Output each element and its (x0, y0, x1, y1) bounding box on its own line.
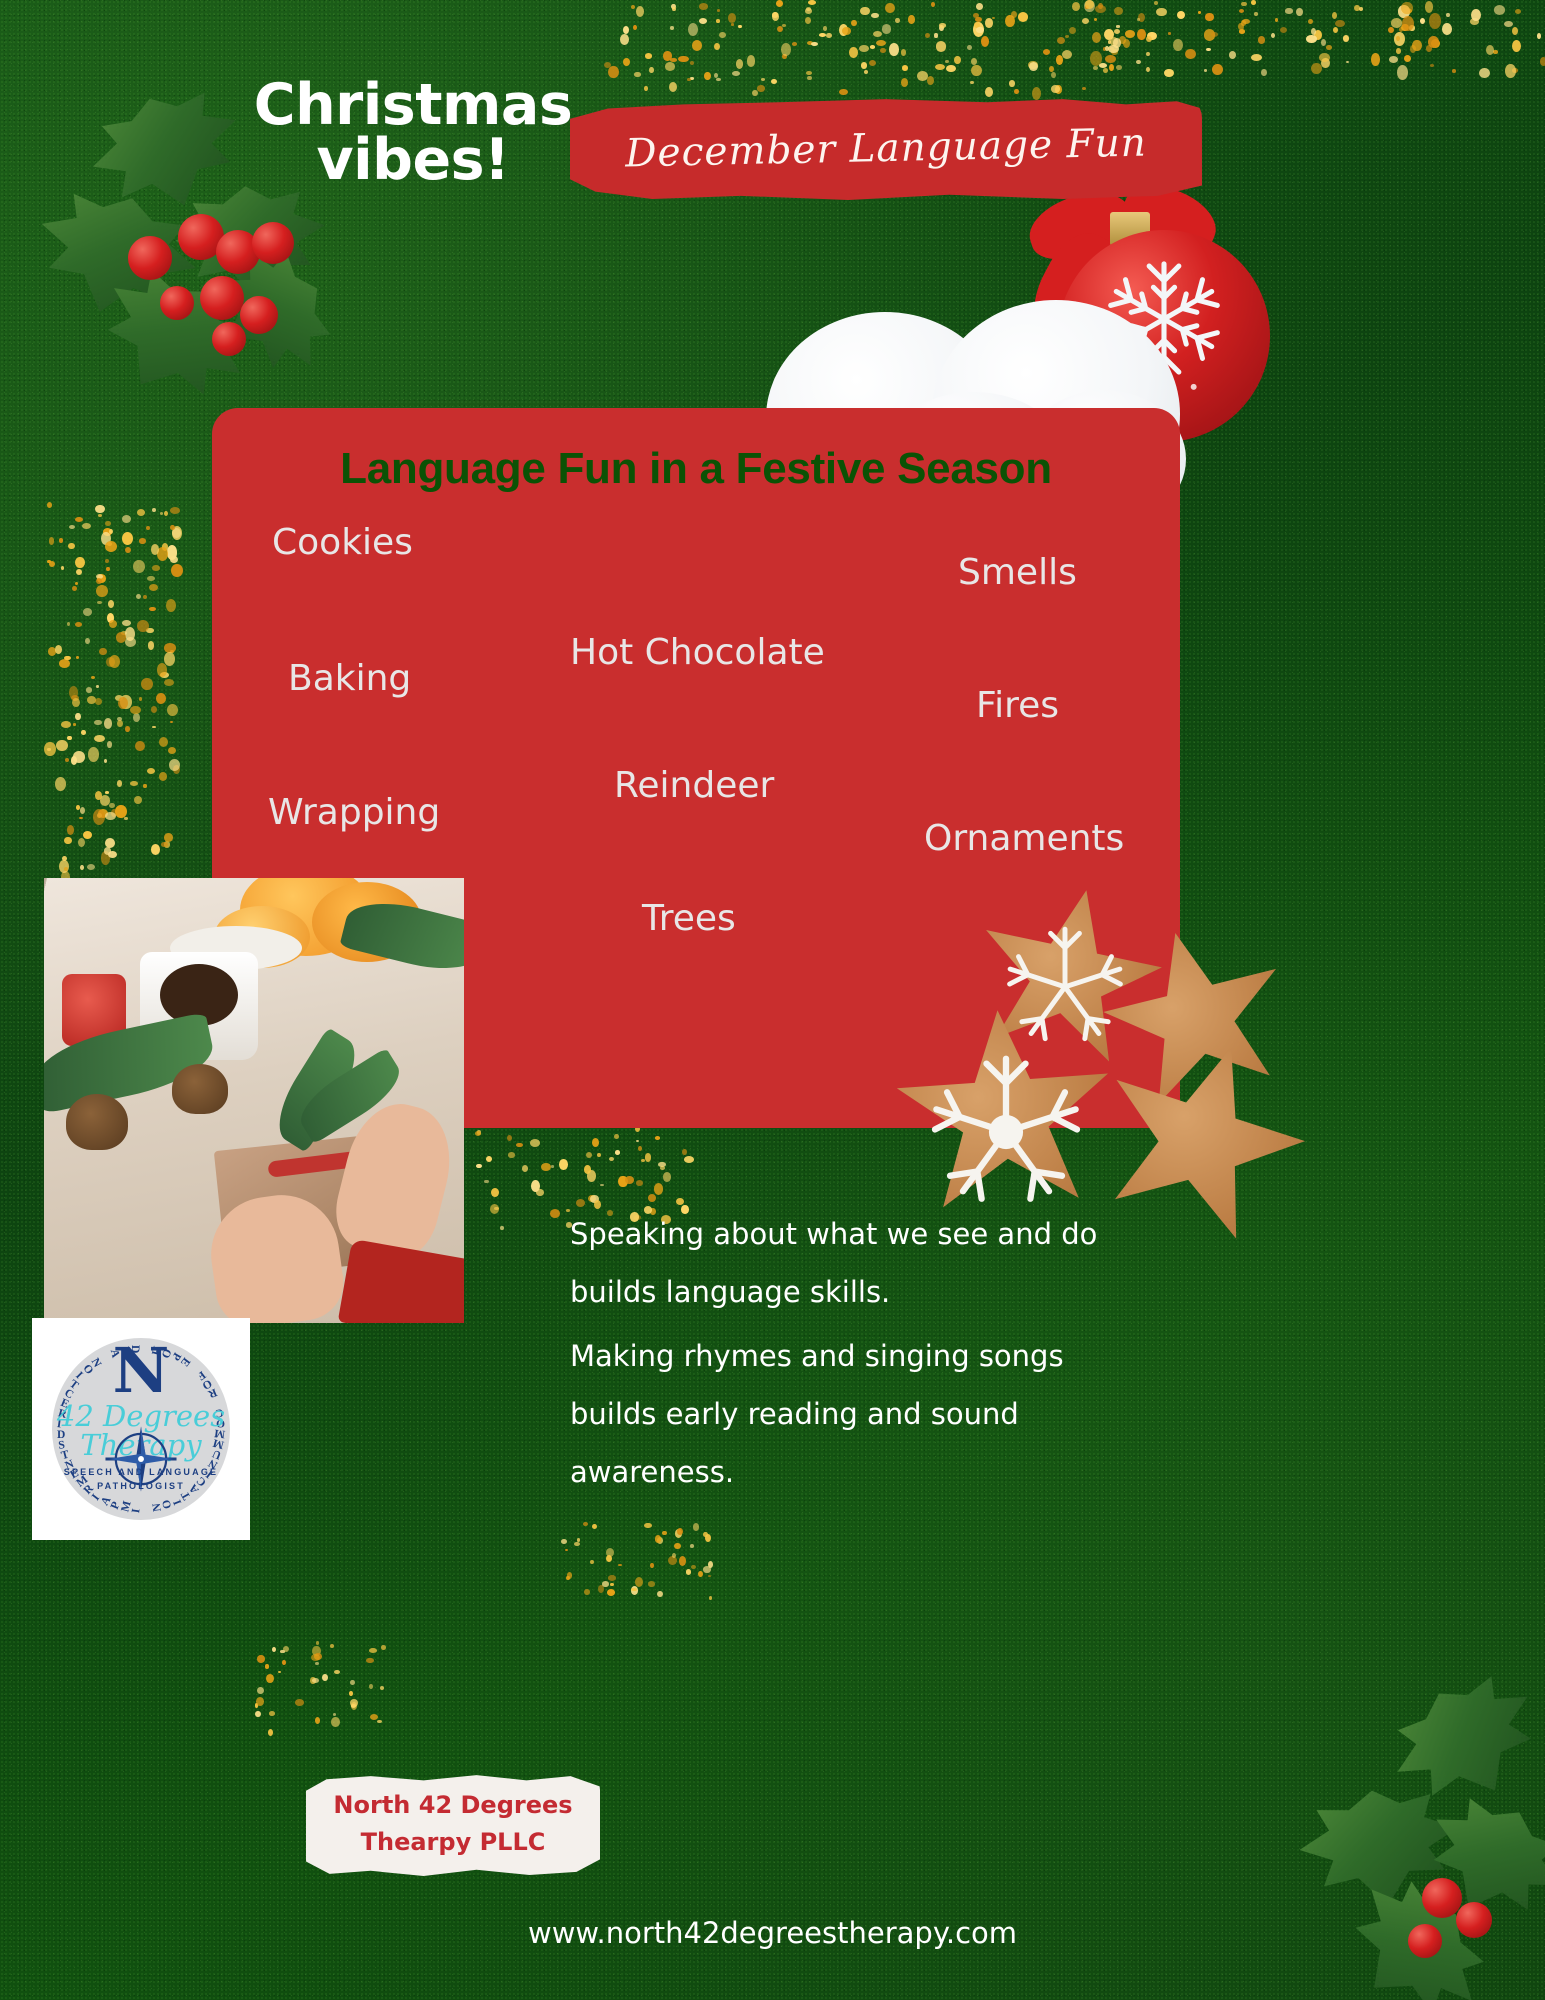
confetti-speck (75, 582, 78, 585)
confetti-speck (1125, 30, 1135, 37)
confetti-speck (1335, 20, 1345, 27)
confetti-speck (256, 1697, 264, 1706)
confetti-speck (61, 721, 71, 728)
confetti-speck (137, 620, 149, 632)
confetti-speck (1308, 19, 1313, 24)
confetti-speck (1479, 68, 1490, 78)
confetti-speck (312, 1678, 319, 1683)
confetti-speck (1391, 18, 1402, 27)
confetti-speck (80, 865, 84, 870)
confetti-speck (806, 71, 812, 75)
confetti-speck (134, 796, 142, 804)
confetti-speck (703, 1566, 711, 1573)
confetti-speck (808, 0, 816, 5)
confetti-speck (1396, 48, 1401, 54)
confetti-speck (75, 713, 80, 720)
confetti-speck (634, 72, 640, 76)
confetti-speck (682, 1149, 687, 1155)
confetti-speck (255, 1711, 260, 1717)
confetti-speck (1254, 12, 1258, 15)
confetti-speck (1011, 11, 1017, 18)
confetti-speck (88, 747, 99, 762)
confetti-speck (1271, 33, 1275, 38)
confetti-speck (94, 720, 102, 726)
confetti-speck (149, 607, 156, 612)
confetti-speck (870, 45, 875, 48)
confetti-speck (1540, 57, 1545, 66)
confetti-speck (1105, 55, 1116, 63)
confetti-speck (665, 62, 675, 70)
confetti-speck (133, 713, 140, 722)
confetti-speck (61, 566, 64, 570)
confetti-speck (1261, 69, 1267, 76)
confetti-speck (1212, 64, 1223, 75)
confetti-speck (135, 741, 144, 751)
confetti-speck (125, 726, 130, 731)
confetti-speck (1275, 18, 1278, 21)
confetti-speck (1371, 53, 1380, 65)
confetti-speck (757, 85, 766, 91)
confetti-speck (971, 58, 977, 65)
confetti-speck (931, 2, 936, 8)
confetti-speck (108, 851, 117, 858)
confetti-speck (1346, 61, 1349, 63)
confetti-speck (876, 40, 886, 46)
confetti-speck (105, 791, 109, 794)
confetti-speck (161, 842, 168, 847)
confetti-speck (927, 76, 934, 85)
confetti-speck (152, 508, 156, 512)
confetti-speck (636, 1180, 643, 1186)
confetti-speck (1093, 66, 1099, 70)
confetti-speck (584, 1589, 590, 1595)
confetti-speck (1018, 12, 1028, 22)
confetti-speck (873, 31, 882, 37)
confetti-speck (62, 856, 67, 861)
confetti-speck (160, 512, 163, 515)
confetti-speck (95, 505, 105, 514)
confetti-speck (381, 1645, 386, 1650)
confetti-speck (1043, 49, 1050, 55)
confetti-speck (108, 600, 115, 608)
confetti-speck (369, 1684, 373, 1689)
confetti-speck (592, 1524, 597, 1529)
confetti-speck (159, 772, 167, 781)
confetti-speck (170, 507, 181, 514)
confetti-speck (670, 26, 674, 30)
confetti-speck (75, 517, 83, 522)
word-item: Ornaments (924, 818, 1124, 859)
confetti-speck (901, 78, 908, 87)
confetti-speck (1429, 13, 1441, 28)
confetti-speck (584, 1165, 591, 1173)
confetti-speck (565, 1549, 568, 1551)
confetti-speck (69, 525, 75, 529)
confetti-speck (782, 24, 786, 27)
confetti-speck (1072, 2, 1081, 11)
confetti-speck (638, 1146, 642, 1152)
confetti-speck (663, 1172, 671, 1182)
confetti-speck (122, 532, 133, 545)
confetti-speck (99, 648, 107, 656)
confetti-speck (608, 66, 618, 79)
confetti-speck (880, 48, 886, 53)
confetti-speck (885, 3, 894, 13)
confetti-speck (945, 60, 948, 63)
confetti-speck (650, 1563, 654, 1568)
confetti-speck (859, 45, 869, 52)
confetti-speck (76, 656, 79, 659)
confetti-speck (1251, 54, 1262, 61)
badge-line-2: Thearpy PLLC (361, 1824, 546, 1861)
confetti-speck (1285, 8, 1292, 13)
confetti-speck (971, 65, 982, 77)
confetti-speck (1177, 11, 1185, 19)
confetti-speck (839, 89, 848, 96)
confetti-speck (690, 1544, 694, 1548)
confetti-speck (561, 1539, 567, 1544)
confetti-speck (976, 3, 983, 10)
confetti-speck (648, 1194, 656, 1202)
confetti-speck (551, 1165, 554, 1168)
confetti-speck (935, 64, 945, 70)
confetti-speck (704, 72, 710, 80)
confetti-speck (79, 817, 82, 820)
confetti-speck (85, 638, 90, 644)
card-title: Language Fun in a Festive Season (212, 444, 1180, 494)
confetti-speck (1258, 36, 1265, 44)
confetti-speck (522, 1165, 528, 1172)
confetti-speck (1442, 23, 1452, 35)
confetti-speck (67, 825, 74, 835)
confetti-speck (1389, 56, 1399, 63)
confetti-speck (687, 78, 691, 81)
confetti-speck (350, 1680, 355, 1686)
confetti-speck (1333, 27, 1338, 33)
confetti-speck (625, 1176, 634, 1184)
confetti-speck (1185, 49, 1196, 59)
confetti-speck (151, 544, 159, 555)
confetti-speck (86, 687, 92, 692)
confetti-speck (869, 60, 876, 66)
confetti-speck (316, 1641, 320, 1645)
confetti-speck (366, 1658, 374, 1664)
confetti-speck (78, 838, 85, 847)
confetti-speck (1321, 39, 1326, 46)
confetti-speck (349, 1691, 353, 1696)
page-title: Christmas vibes! (248, 78, 578, 187)
confetti-speck (669, 82, 677, 92)
confetti-speck (1085, 0, 1094, 8)
confetti-speck (823, 26, 827, 30)
logo-subtitle-line2: PATHOLOGIST (32, 1480, 250, 1494)
confetti-speck (992, 17, 995, 19)
confetti-speck (1505, 64, 1516, 78)
confetti-speck (805, 17, 812, 25)
confetti-speck (684, 1156, 694, 1163)
confetti-speck (688, 23, 698, 36)
confetti-speck (614, 1134, 619, 1139)
confetti-speck (574, 1542, 580, 1546)
website-url: www.north42degreestherapy.com (0, 1916, 1545, 1950)
confetti-speck (83, 831, 92, 839)
confetti-speck (1239, 29, 1245, 33)
confetti-speck (1343, 35, 1350, 42)
confetti-speck (864, 70, 868, 74)
confetti-speck (851, 20, 857, 26)
confetti-speck (1029, 62, 1038, 71)
confetti-speck (94, 735, 105, 742)
confetti-speck (967, 45, 972, 50)
confetti-speck (484, 1180, 488, 1184)
confetti-speck (1326, 45, 1331, 50)
confetti-speck (334, 1670, 340, 1674)
confetti-speck (97, 601, 102, 604)
confetti-speck (908, 15, 915, 23)
confetti-speck (171, 564, 183, 577)
confetti-speck (1319, 53, 1330, 61)
confetti-speck (678, 56, 688, 63)
confetti-speck (871, 13, 879, 19)
confetti-speck (118, 697, 128, 709)
confetti-speck (644, 1523, 652, 1529)
confetti-speck (1504, 21, 1513, 28)
confetti-speck (122, 515, 131, 523)
confetti-speck (1116, 25, 1120, 27)
confetti-speck (609, 1157, 614, 1161)
confetti-speck (776, 0, 784, 7)
confetti-speck (1311, 28, 1316, 35)
confetti-speck (106, 567, 109, 571)
confetti-speck (772, 12, 779, 21)
confetti-speck (68, 543, 75, 549)
logo-subtitle: SPEECH AND LANGUAGE PATHOLOGIST (32, 1466, 250, 1493)
confetti-speck (122, 620, 130, 626)
confetti-speck (608, 1575, 616, 1580)
confetti-speck (1173, 39, 1182, 51)
confetti-speck (631, 1588, 636, 1591)
confetti-speck (47, 502, 52, 508)
confetti-speck (167, 704, 178, 716)
confetti-speck (139, 538, 146, 543)
confetti-speck (709, 1596, 713, 1600)
confetti-speck (1397, 65, 1409, 81)
confetti-speck (618, 1564, 622, 1567)
confetti-speck (117, 720, 123, 727)
confetti-speck (1359, 7, 1363, 11)
confetti-speck (636, 6, 644, 17)
confetti-speck (104, 718, 112, 728)
confetti-speck (747, 55, 756, 66)
confetti-speck (731, 23, 734, 25)
confetti-speck (1123, 39, 1130, 48)
confetti-speck (620, 34, 629, 45)
confetti-speck (1065, 35, 1070, 38)
word-item: Wrapping (268, 792, 440, 833)
confetti-speck (133, 560, 145, 573)
confetti-speck (1515, 9, 1521, 14)
confetti-speck (508, 1152, 515, 1157)
confetti-speck (80, 807, 85, 814)
confetti-speck (925, 33, 930, 38)
confetti-speck (265, 1664, 270, 1669)
confetti-speck (777, 26, 783, 32)
word-item: Hot Chocolate (570, 632, 825, 673)
confetti-speck (1306, 35, 1316, 42)
confetti-speck (151, 706, 157, 713)
confetti-speck (282, 1660, 286, 1665)
confetti-speck (1136, 60, 1141, 65)
confetti-speck (130, 706, 142, 715)
confetti-speck (96, 685, 99, 689)
confetti-speck (1082, 87, 1086, 90)
confetti-speck (507, 1135, 512, 1141)
confetti-speck (107, 741, 112, 747)
confetti-speck (1168, 32, 1171, 34)
confetti-speck (311, 1654, 320, 1661)
confetti-speck (1430, 64, 1434, 67)
confetti-speck (600, 1184, 604, 1186)
confetti-speck (1332, 12, 1337, 19)
confetti-speck (105, 838, 115, 848)
confetti-speck (82, 523, 91, 529)
confetti-speck (860, 7, 869, 16)
confetti-speck (1446, 13, 1449, 17)
confetti-speck (278, 1671, 281, 1673)
confetti-speck (500, 1226, 503, 1230)
confetti-speck (1114, 7, 1123, 15)
confetti-speck (333, 1713, 337, 1716)
confetti-speck (1206, 48, 1211, 51)
confetti-speck (973, 13, 979, 18)
confetti-speck (1311, 63, 1322, 75)
confetti-speck (490, 1204, 499, 1214)
confetti-speck (164, 511, 168, 516)
confetti-speck (1251, 0, 1256, 4)
confetti-speck (330, 1644, 334, 1648)
word-item: Reindeer (614, 765, 774, 806)
confetti-speck (895, 18, 899, 23)
confetti-speck (75, 557, 85, 568)
confetti-speck (1198, 11, 1202, 14)
confetti-speck (781, 43, 791, 56)
confetti-speck (662, 1531, 667, 1536)
confetti-speck (257, 1687, 264, 1694)
word-item: Fires (976, 685, 1059, 726)
confetti-speck (530, 1139, 540, 1147)
confetti-speck (615, 1150, 620, 1155)
confetti-speck (1057, 37, 1065, 44)
confetti-speck (849, 47, 858, 59)
confetti-speck (76, 569, 82, 575)
confetti-speck (71, 756, 77, 765)
confetti-speck (1425, 1, 1434, 13)
confetti-speck (645, 1153, 652, 1162)
confetti-speck (705, 1534, 711, 1542)
confetti-speck (475, 1131, 481, 1136)
confetti-speck (1062, 50, 1072, 59)
confetti-speck (648, 1581, 656, 1587)
confetti-speck (137, 509, 145, 516)
confetti-speck (541, 1163, 551, 1171)
word-item: Trees (642, 898, 736, 939)
confetti-speck (75, 622, 82, 627)
confetti-speck (602, 1581, 609, 1587)
confetti-speck (1537, 33, 1541, 38)
body-copy: Speaking about what we see and do builds… (570, 1205, 1130, 1501)
confetti-speck (679, 1556, 686, 1566)
confetti-speck (268, 1729, 273, 1736)
confetti-speck (649, 67, 653, 73)
confetti-speck (269, 1711, 275, 1716)
confetti-speck (934, 33, 937, 38)
confetti-speck (152, 726, 155, 728)
confetti-speck (331, 1717, 339, 1727)
confetti-speck (1082, 18, 1089, 24)
confetti-speck (610, 1583, 614, 1587)
confetti-speck (67, 736, 72, 741)
confetti-speck (732, 71, 740, 76)
confetti-speck (716, 78, 721, 81)
confetti-speck (117, 780, 122, 786)
confetti-speck (169, 759, 180, 771)
confetti-speck (819, 33, 825, 37)
confetti-speck (168, 747, 176, 754)
confetti-speck (315, 1717, 320, 1724)
confetti-speck (96, 578, 102, 584)
confetti-speck (761, 78, 766, 81)
confetti-speck (56, 740, 68, 752)
confetti-speck (954, 56, 961, 64)
confetti-speck (1094, 18, 1097, 21)
confetti-speck (81, 730, 85, 735)
confetti-speck (882, 24, 892, 33)
confetti-speck (531, 1180, 540, 1192)
confetti-speck (1211, 32, 1218, 37)
confetti-speck (692, 40, 703, 51)
confetti-speck (351, 1704, 356, 1708)
confetti-speck (1410, 45, 1416, 54)
confetti-speck (693, 1523, 699, 1530)
confetti-speck (125, 547, 131, 554)
confetti-speck (1486, 45, 1494, 55)
confetti-speck (141, 678, 153, 690)
confetti-speck (143, 784, 146, 787)
confetti-speck (1420, 18, 1426, 24)
confetti-speck (1401, 2, 1412, 15)
confetti-speck (1512, 40, 1521, 52)
confetti-speck (714, 43, 720, 50)
confetti-speck (1280, 27, 1287, 33)
confetti-speck (686, 1569, 692, 1574)
confetti-speck (738, 25, 741, 28)
confetti-speck (115, 805, 126, 818)
confetti-speck (59, 538, 64, 543)
confetti-speck (139, 697, 142, 701)
confetti-speck (981, 36, 989, 47)
confetti-speck (592, 1138, 599, 1147)
confetti-speck (719, 32, 726, 38)
confetti-speck (172, 528, 180, 538)
confetti-speck (1452, 69, 1455, 73)
confetti-speck (1205, 13, 1213, 20)
confetti-speck (677, 1528, 683, 1535)
confetti-speck (109, 803, 115, 808)
confetti-speck (148, 641, 155, 650)
body-line-2: Making rhymes and singing songs builds e… (570, 1327, 1130, 1501)
confetti-speck (59, 659, 71, 668)
confetti-speck (728, 13, 736, 23)
